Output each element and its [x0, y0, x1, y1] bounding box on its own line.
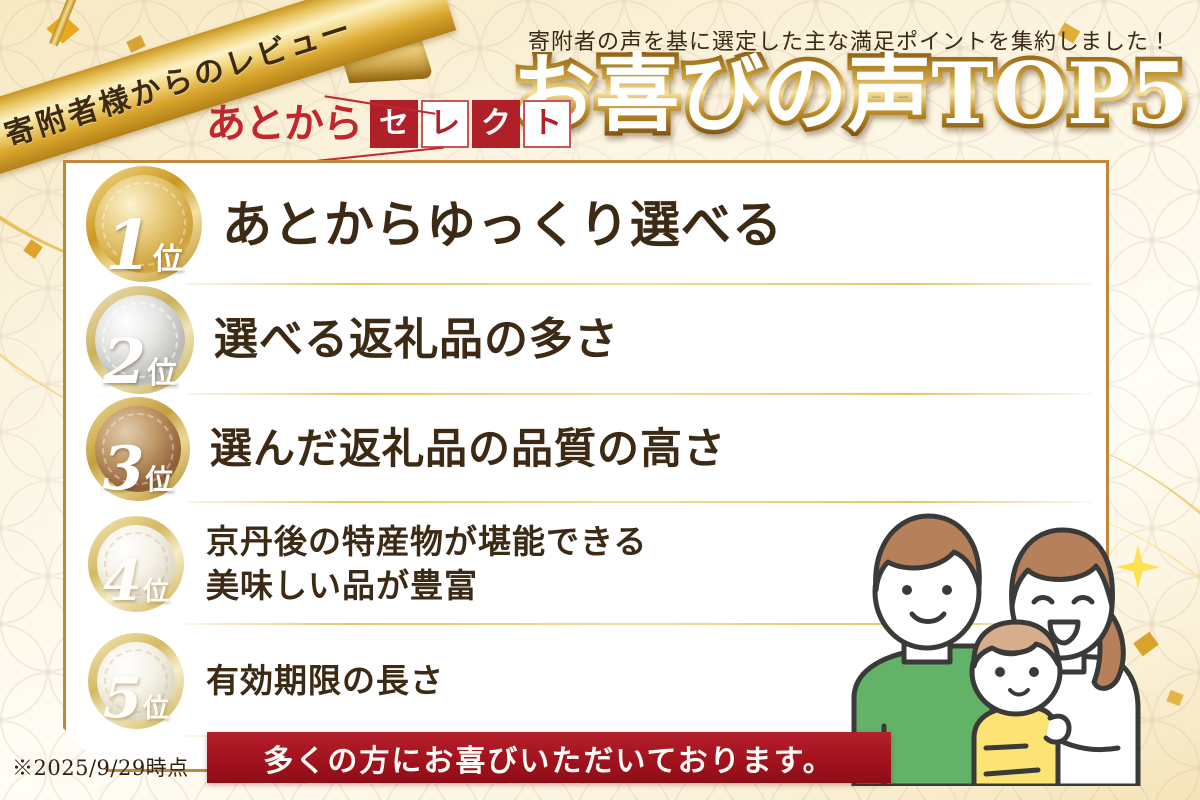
medal-rank-2: 2位	[86, 286, 194, 394]
medal-rank-suffix: 位	[147, 359, 177, 389]
footnote-date: ※2025/9/29時点	[12, 752, 189, 782]
ranking-text-1: あとからゆっくり選べる	[222, 197, 1106, 252]
ranking-text-2: 選べる返礼品の多さ	[214, 316, 1106, 364]
ranking-row-2: 2位 選べる返礼品の多さ	[66, 285, 1106, 395]
family-illustration	[846, 486, 1146, 786]
ranking-text-3-line1: 選んだ返礼品の品質の高さ	[210, 424, 726, 473]
medal-rank-number: 2	[103, 333, 146, 390]
page-title: お喜びの声TOP5 お喜びの声TOP5	[500, 52, 1200, 136]
medal-rank-label: 2位	[86, 333, 194, 394]
bottom-banner-text: 多くの方にお喜びいただいております。	[263, 736, 834, 780]
medal-rank-4: 4位	[88, 516, 184, 612]
ranking-text-1-line1: あとからゆっくり選べる	[222, 195, 783, 254]
medal-rank-3: 3位	[86, 397, 190, 501]
medal-rank-label: 5位	[88, 673, 184, 729]
ranking-text-3: 選んだ返礼品の品質の高さ	[210, 426, 1106, 472]
medal-rank-number: 4	[103, 556, 142, 608]
medal-rank-5: 5位	[88, 633, 184, 729]
medal-rank-suffix: 位	[143, 696, 169, 722]
medal-rank-suffix: 位	[143, 579, 169, 605]
logo-box-re: レ	[421, 100, 469, 148]
atokara-select-logo: あとから セ レ ク ト	[206, 100, 571, 148]
ranking-row-1: 1位 あとからゆっくり選べる	[66, 163, 1106, 285]
page-title-text: お喜びの声TOP5	[511, 44, 1188, 143]
medal-rank-number: 3	[103, 442, 145, 497]
medal-rank-label: 1位	[86, 215, 202, 282]
logo-box-to: ト	[523, 100, 571, 148]
medal-rank-suffix: 位	[145, 466, 173, 494]
poster-canvas: 寄附者様からのレビュー 寄附者の声を基に選定した主な満足ポイントを集約しました！…	[0, 0, 1200, 800]
medal-rank-1: 1位	[86, 166, 202, 282]
ranking-text-2-line1: 選べる返礼品の多さ	[214, 314, 619, 365]
logo-script-text: あとから	[206, 104, 362, 144]
medal-rank-number: 5	[103, 673, 142, 725]
logo-box-ku: ク	[472, 100, 520, 148]
medal-rank-label: 3位	[86, 442, 190, 501]
ribbon-stick	[49, 0, 92, 46]
medal-rank-label: 4位	[88, 556, 184, 612]
medal-rank-suffix: 位	[153, 245, 183, 275]
bottom-red-banner: 多くの方にお喜びいただいております。	[207, 732, 891, 783]
ranking-text-5-line1: 有効期限の長さ	[206, 661, 444, 700]
medal-rank-number: 1	[105, 215, 152, 278]
